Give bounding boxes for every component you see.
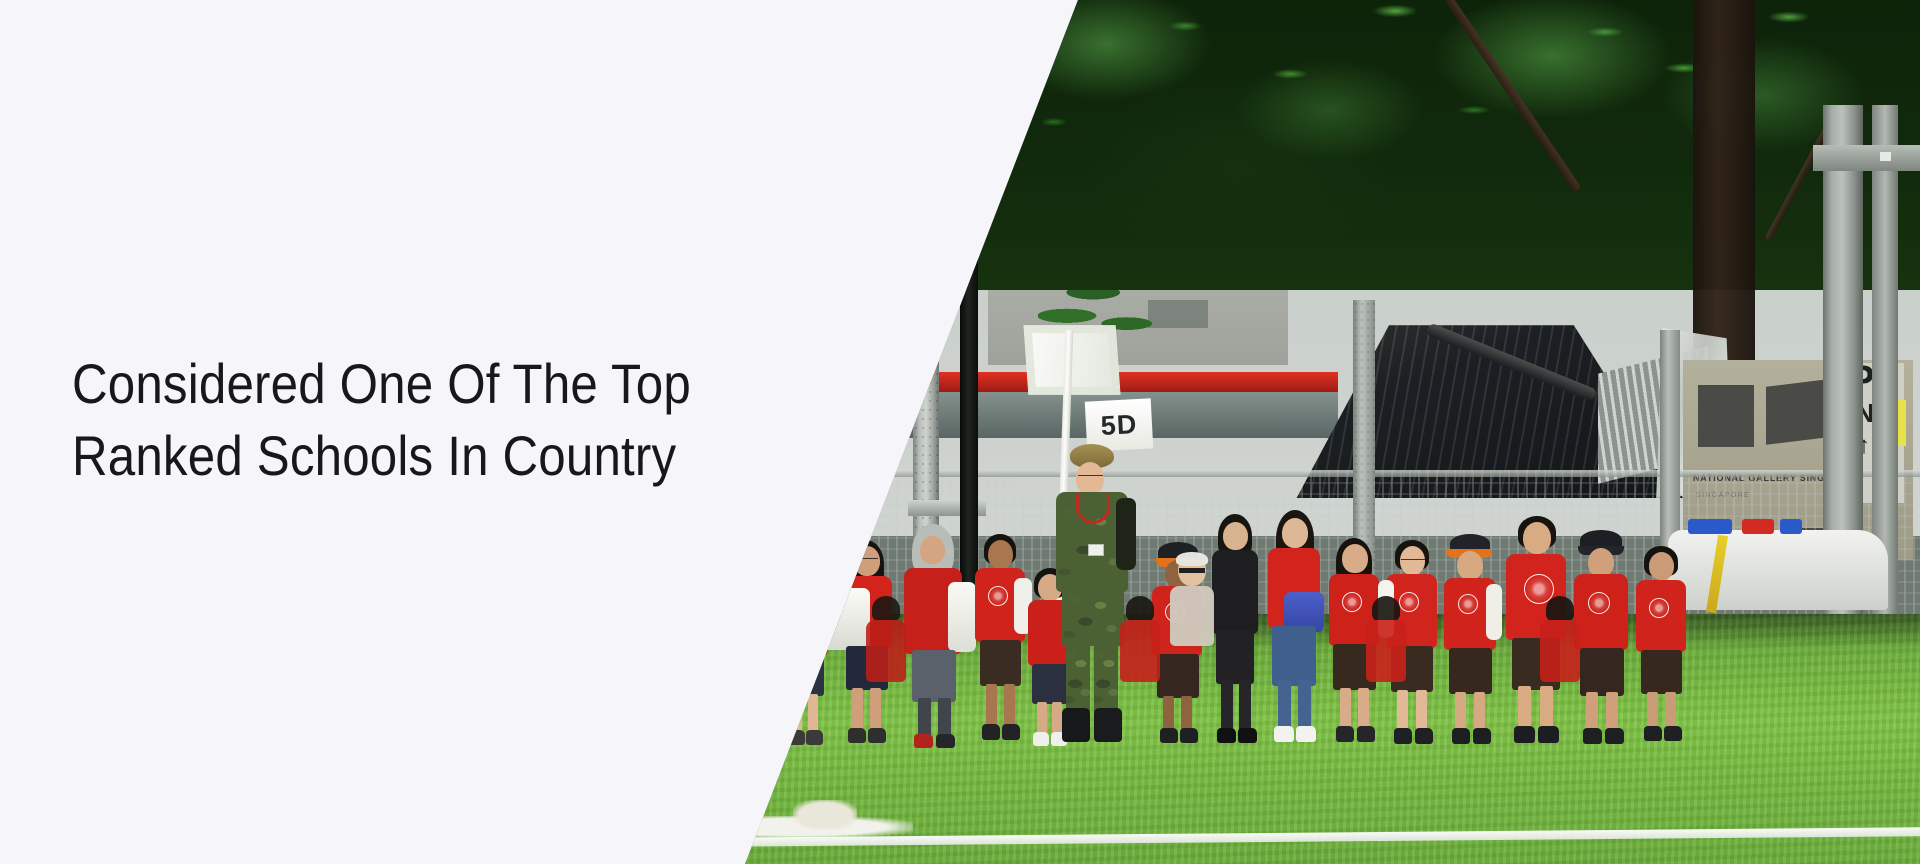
headline-line-2: Ranked Schools In Country	[72, 420, 635, 492]
adult-background	[1168, 554, 1216, 650]
text-panel: Considered One Of The Top Ranked Schools…	[0, 0, 1078, 864]
pole-tag	[1880, 152, 1891, 161]
student-background	[1538, 596, 1582, 746]
student	[1440, 534, 1500, 746]
student-background	[1118, 596, 1162, 746]
headline-line-1: Considered One Of The Top	[72, 348, 635, 420]
steel-pole-crossbar	[1813, 145, 1920, 171]
hero-banner: NATIONAL GALLERY SINGAPORE SINGAPORE P I…	[0, 0, 1920, 864]
student	[1260, 510, 1328, 746]
student	[1632, 546, 1690, 746]
student-background	[1364, 596, 1408, 746]
page-title: Considered One Of The Top Ranked Schools…	[72, 348, 635, 491]
